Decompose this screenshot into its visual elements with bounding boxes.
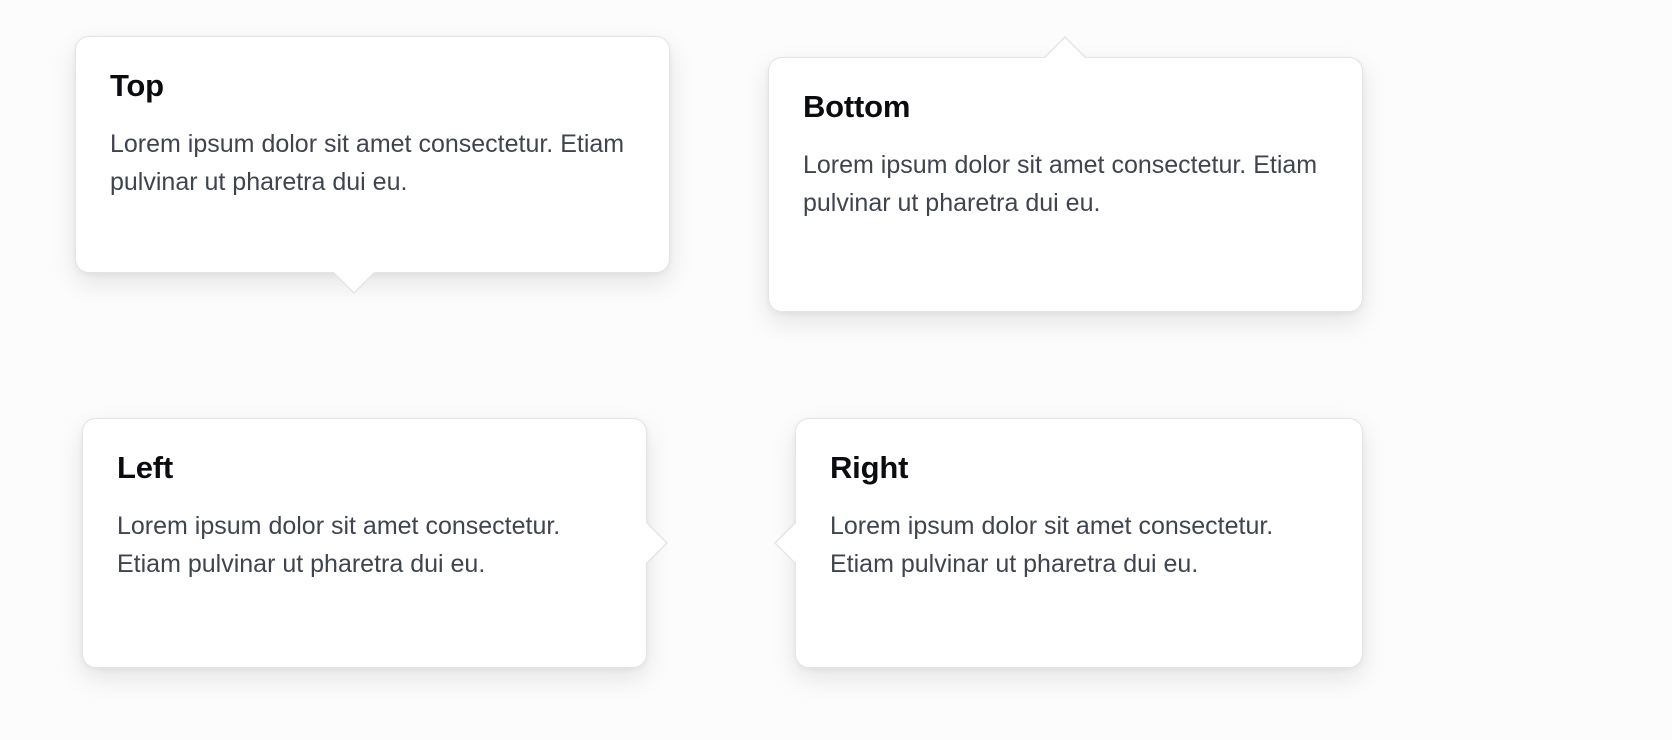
popover-bottom-title: Bottom [803,88,1328,126]
popover-left-body: Lorem ipsum dolor sit amet consectetur. … [117,487,612,583]
popover-right-body: Lorem ipsum dolor sit amet consectetur. … [830,487,1328,583]
tooltip-placement-showcase: Top Lorem ipsum dolor sit amet consectet… [0,0,1672,740]
arrow-up-icon [1045,38,1085,58]
popover-top-title: Top [110,67,635,105]
arrow-right-icon [646,523,666,563]
arrow-left-icon [776,523,796,563]
popover-bottom-body: Lorem ipsum dolor sit amet consectetur. … [803,126,1328,222]
popover-left-title: Left [117,449,612,487]
popover-bottom[interactable]: Bottom Lorem ipsum dolor sit amet consec… [768,57,1363,312]
arrow-down-icon [334,272,374,292]
popover-right-title: Right [830,449,1328,487]
popover-right[interactable]: Right Lorem ipsum dolor sit amet consect… [795,418,1363,668]
popover-left[interactable]: Left Lorem ipsum dolor sit amet consecte… [82,418,647,668]
popover-top[interactable]: Top Lorem ipsum dolor sit amet consectet… [75,36,670,273]
popover-top-body: Lorem ipsum dolor sit amet consectetur. … [110,105,635,201]
